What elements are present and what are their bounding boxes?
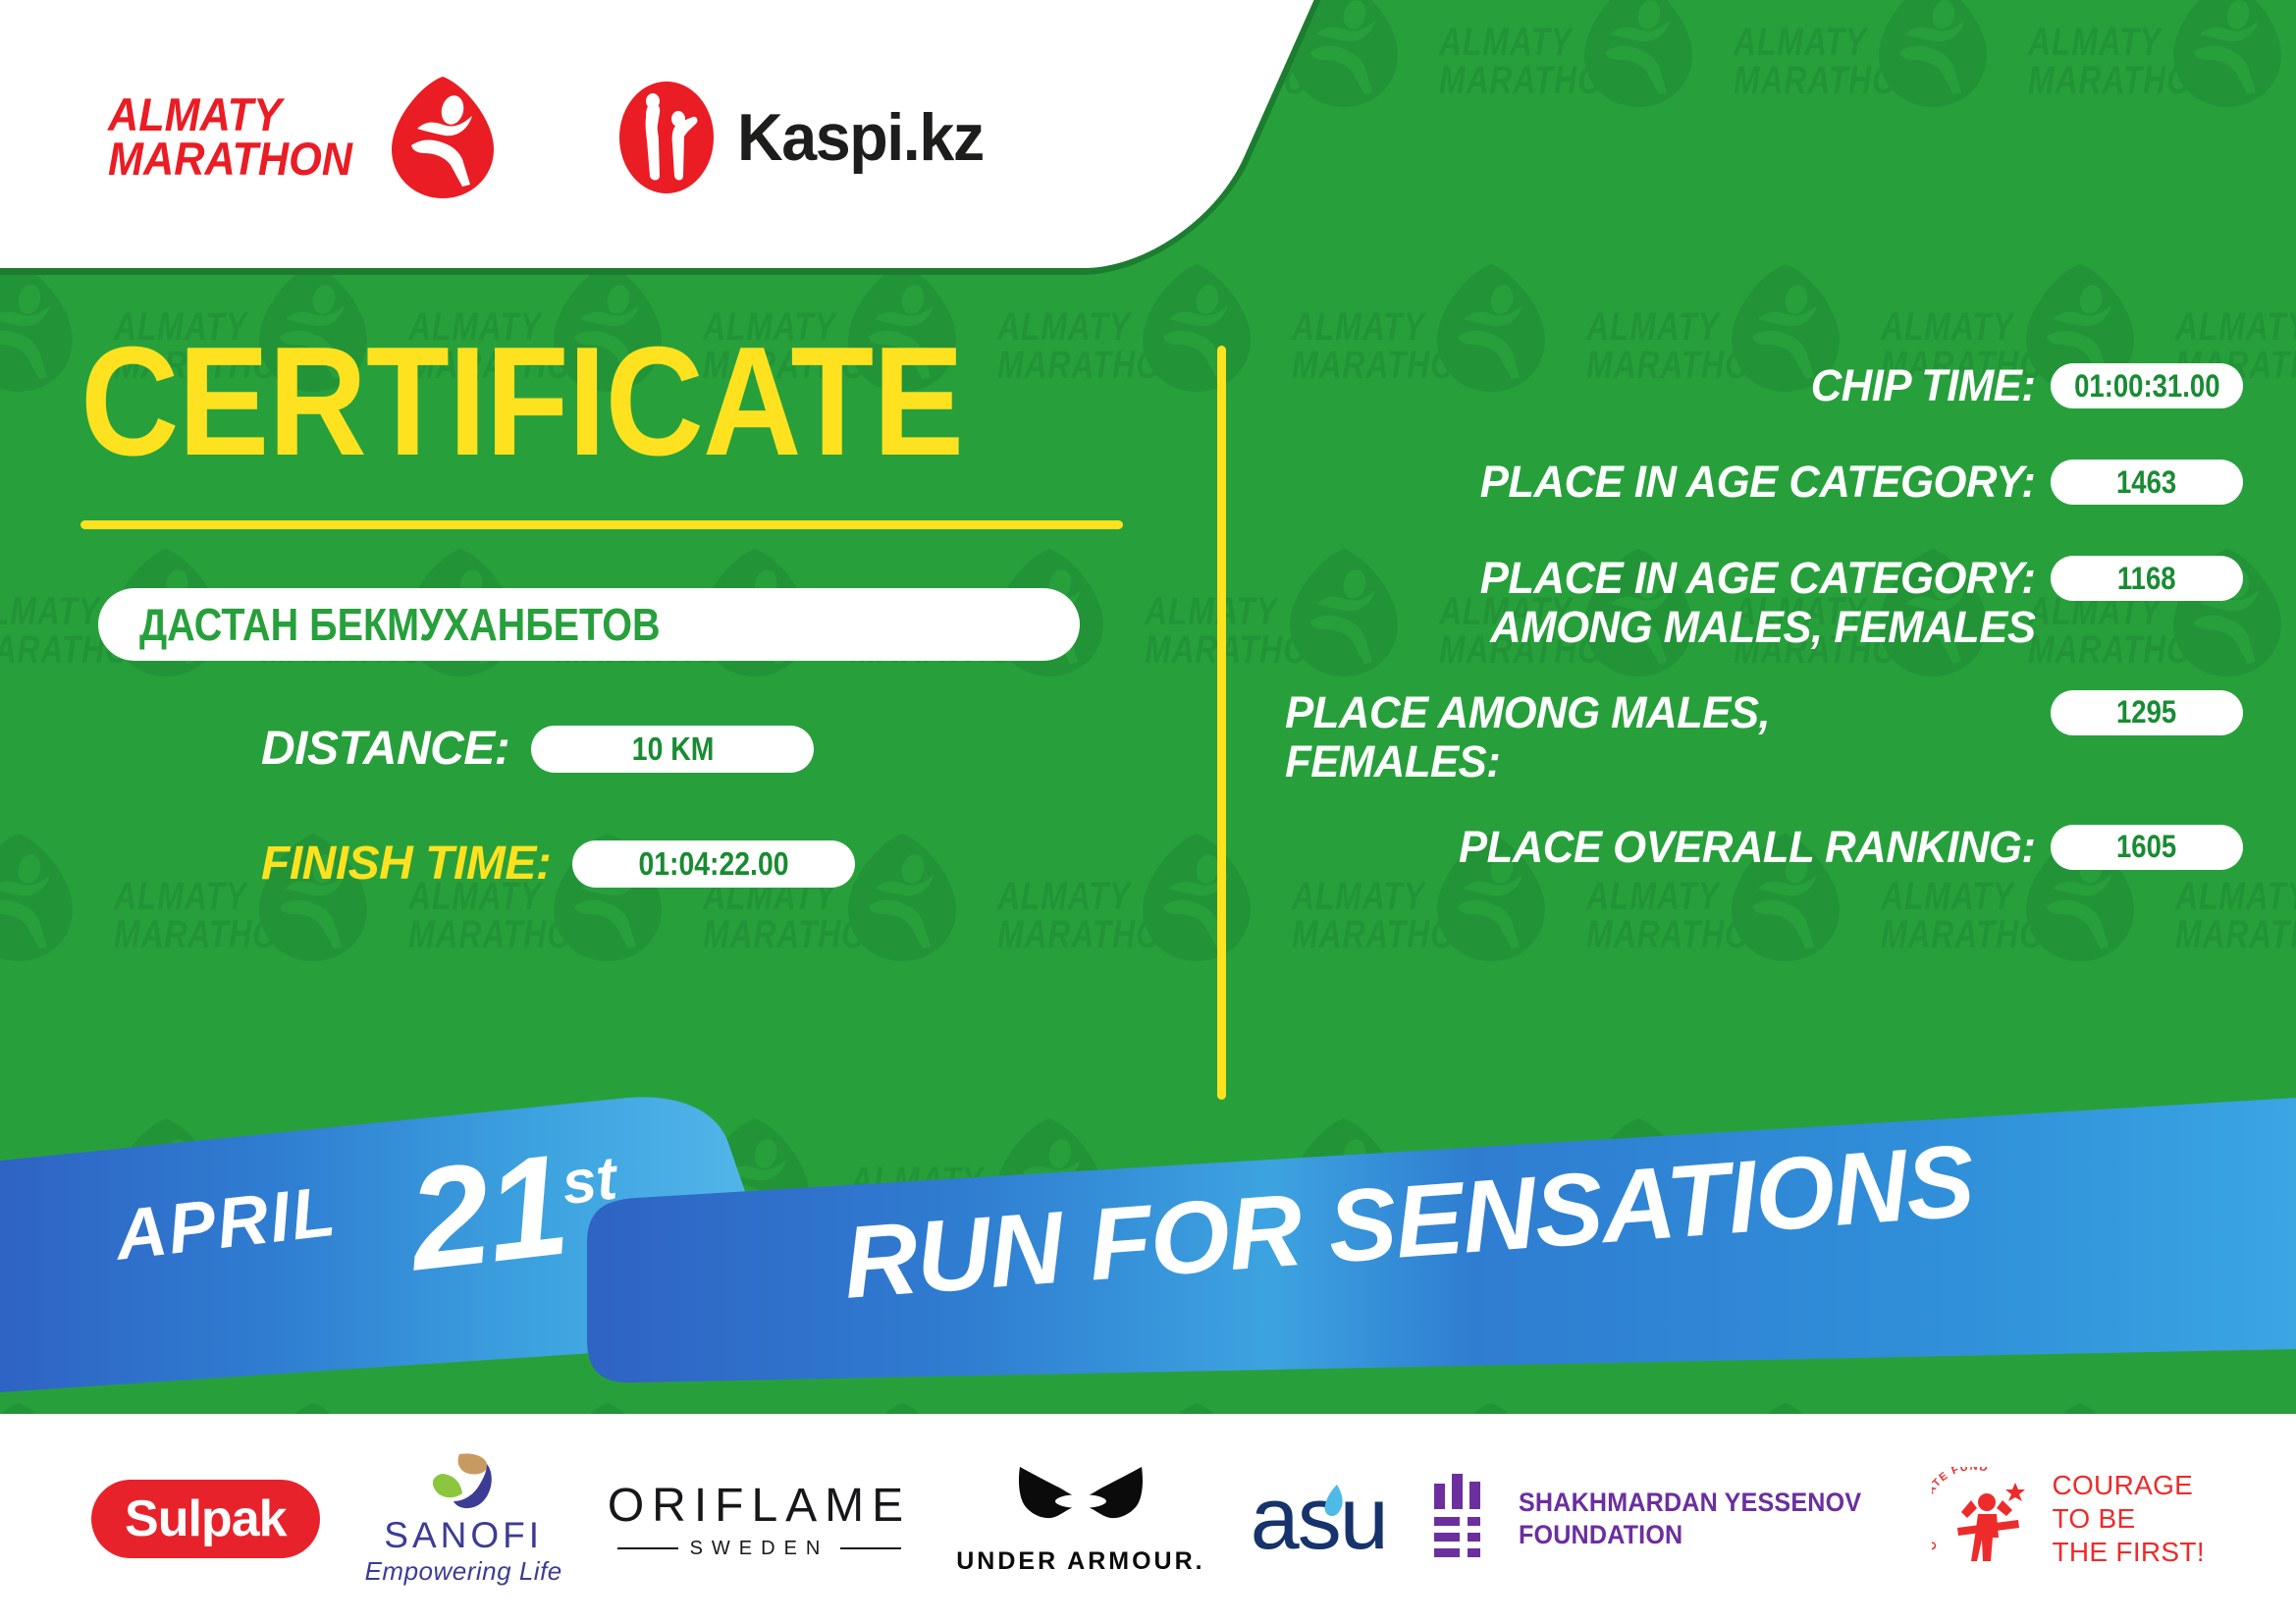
watermark-text: ALMATYMARATHON (1439, 24, 1627, 100)
place-age-category-gender-label-line1: PLACE IN AGE CATEGORY: (1285, 554, 2035, 603)
place-among-gender-label: PLACE AMONG MALES, FEMALES: (1285, 688, 2051, 787)
ribbon-day: 21st (400, 1115, 627, 1303)
watermark-text: ALMATYMARATHON (2028, 1163, 2216, 1239)
place-overall-value: 1605 (2116, 829, 2176, 865)
almaty-marathon-logo: ALMATY MARATHON (108, 75, 498, 200)
place-age-category-gender-label: PLACE IN AGE CATEGORY: AMONG MALES, FEMA… (1285, 554, 2051, 653)
left-column: CERTIFICATE ДАСТАН БЕКМУХАНБЕТОВ DISTANC… (0, 324, 1168, 891)
stat-row-chip-time: CHIP TIME: 01:00:31.00 (1261, 361, 2243, 422)
asu-wordmark: asu (1251, 1469, 1387, 1570)
asu-wordmark-text: asu (1251, 1470, 1387, 1568)
sanofi-wordmark: SANOFI (365, 1515, 562, 1556)
watermark-text: ALMATYMARATHON (1734, 24, 1921, 100)
oriflame-subtitle: SWEDEN (690, 1538, 829, 1560)
watermark-tile: ALMATYMARATHON (2022, 1080, 2296, 1365)
place-age-category-gender-value: 1168 (2117, 561, 2176, 597)
page-title: CERTIFICATE (80, 324, 1038, 479)
ribbon-month: APRIL (111, 1171, 341, 1276)
sponsor-sanofi: SANOFI Empowering Life (365, 1452, 562, 1587)
place-age-category-value: 1463 (2116, 464, 2176, 501)
place-age-category-gender-value-pill: 1168 (2051, 556, 2243, 601)
stat-row-place-overall: PLACE OVERALL RANKING: 1605 (1261, 823, 2243, 884)
courage-wordmark: COURAGE TO BE THE FIRST! (2052, 1469, 2204, 1569)
courage-runner-icon: CORPORATE FUND (1932, 1467, 2040, 1571)
sponsor-oriflame: ORIFLAME SWEDEN (608, 1479, 911, 1560)
column-divider (1217, 346, 1226, 1100)
oriflame-sub-row: SWEDEN (608, 1538, 911, 1560)
right-column: CHIP TIME: 01:00:31.00 PLACE IN AGE CATE… (1261, 361, 2243, 919)
sulpak-wordmark: Sulpak (125, 1490, 287, 1547)
athlete-name-field: ДАСТАН БЕКМУХАНБЕТОВ (98, 588, 1080, 661)
ribbon-day-suffix: st (559, 1145, 620, 1218)
sponsor-sulpak: Sulpak (91, 1480, 320, 1558)
place-overall-value-pill: 1605 (2051, 825, 2243, 870)
under-armour-icon (1014, 1463, 1148, 1542)
ribbon-day-number: 21 (401, 1124, 574, 1301)
place-among-gender-value-pill: 1295 (2051, 690, 2243, 735)
header-logos: ALMATY MARATHON Kaspi.kz (0, 0, 1080, 275)
watermark-teardrop-icon (2169, 0, 2285, 110)
place-among-gender-label-line1: PLACE AMONG MALES, (1285, 688, 2035, 737)
watermark-tile: ALMATYMARATHON (1728, 0, 2022, 226)
kaspi-wordmark: Kaspi.kz (737, 99, 984, 176)
courage-line3: THE FIRST! (2052, 1536, 2204, 1569)
place-among-gender-label-line2: FEMALES: (1285, 737, 2035, 786)
courage-line1: COURAGE (2052, 1469, 2204, 1502)
distance-label: DISTANCE: (261, 722, 509, 776)
oriflame-rule-right (840, 1547, 901, 1549)
finish-time-value-pill: 01:04:22.00 (572, 840, 855, 888)
athlete-name: ДАСТАН БЕКМУХАНБЕТОВ (139, 598, 661, 651)
place-among-gender-value: 1295 (2116, 694, 2176, 731)
yessenov-wordmark: SHAKHMARDAN YESSENOV FOUNDATION (1519, 1487, 1861, 1551)
place-age-category-label: PLACE IN AGE CATEGORY: (1285, 458, 2051, 507)
watermark-teardrop-icon (697, 1115, 813, 1249)
finish-time-value: 01:04:22.00 (639, 845, 789, 883)
watermark-teardrop-icon (1580, 0, 1696, 110)
metric-row-finish-time: FINISH TIME: 01:04:22.00 (261, 837, 1168, 891)
under-armour-wordmark: UNDER ARMOUR. (956, 1547, 1204, 1576)
oriflame-rule-left (617, 1547, 678, 1549)
almaty-marathon-line2: MARATHON (108, 137, 352, 182)
sponsor-under-armour: UNDER ARMOUR. (956, 1463, 1204, 1576)
chip-time-value: 01:00:31.00 (2074, 368, 2219, 405)
stat-row-place-age-category: PLACE IN AGE CATEGORY: 1463 (1261, 458, 2243, 518)
chip-time-label: CHIP TIME: (1285, 361, 2051, 410)
place-age-category-gender-label-line2: AMONG MALES, FEMALES (1285, 603, 2035, 652)
yessenov-line1: SHAKHMARDAN YESSENOV (1519, 1487, 1861, 1519)
distance-value: 10 KM (631, 731, 714, 768)
stat-row-place-among-gender: PLACE AMONG MALES, FEMALES: 1295 (1261, 688, 2243, 787)
metric-row-distance: DISTANCE: 10 KM (261, 722, 1168, 776)
sponsor-yessenov-foundation: SHAKHMARDAN YESSENOV FOUNDATION (1432, 1474, 1888, 1564)
certificate-canvas: ALMATYMARATHONALMATYMARATHONALMATYMARATH… (0, 0, 2296, 1624)
sponsor-courage-fund: CORPORATE FUND COURAGE TO BE THE FIRST! (1932, 1467, 2204, 1571)
almaty-marathon-wordmark: ALMATY MARATHON (108, 93, 352, 181)
almaty-marathon-line1: ALMATY (108, 93, 352, 137)
stat-row-place-age-category-gender: PLACE IN AGE CATEGORY: AMONG MALES, FEMA… (1261, 554, 2243, 653)
watermark-teardrop-icon (2169, 1115, 2285, 1249)
kaspi-logo: Kaspi.kz (615, 80, 996, 195)
watermark-tile: ALMATYMARATHON (1433, 0, 1728, 226)
sanofi-tagline: Empowering Life (365, 1556, 562, 1587)
chip-time-value-pill: 01:00:31.00 (2051, 363, 2243, 408)
yessenov-line2: FOUNDATION (1519, 1519, 1861, 1551)
ribbon-slogan: RUN FOR SENSATIONS (840, 1123, 1978, 1323)
place-age-category-value-pill: 1463 (2051, 460, 2243, 505)
title-underline (80, 520, 1123, 529)
watermark-teardrop-icon (1875, 0, 1991, 110)
asu-droplet-icon (1323, 1485, 1345, 1518)
sponsor-strip: Sulpak SANOFI Empowering Life ORIFLAME S… (0, 1414, 2296, 1624)
running-man-teardrop-icon (388, 75, 498, 200)
sanofi-swoosh-icon (430, 1452, 497, 1513)
finish-time-label: FINISH TIME: (261, 837, 551, 891)
courage-line2: TO BE (2052, 1502, 2204, 1536)
watermark-text: ALMATYMARATHON (2028, 24, 2216, 100)
place-overall-label: PLACE OVERALL RANKING: (1285, 823, 2051, 872)
yessenov-bars-icon (1432, 1474, 1497, 1564)
watermark-tile: ALMATYMARATHON (2022, 0, 2296, 226)
sponsor-asu: asu (1251, 1469, 1387, 1570)
kaspi-two-figures-icon (615, 80, 718, 195)
oriflame-wordmark: ORIFLAME (608, 1479, 911, 1533)
distance-value-pill: 10 KM (531, 726, 814, 773)
sulpak-logo: Sulpak (91, 1480, 320, 1558)
